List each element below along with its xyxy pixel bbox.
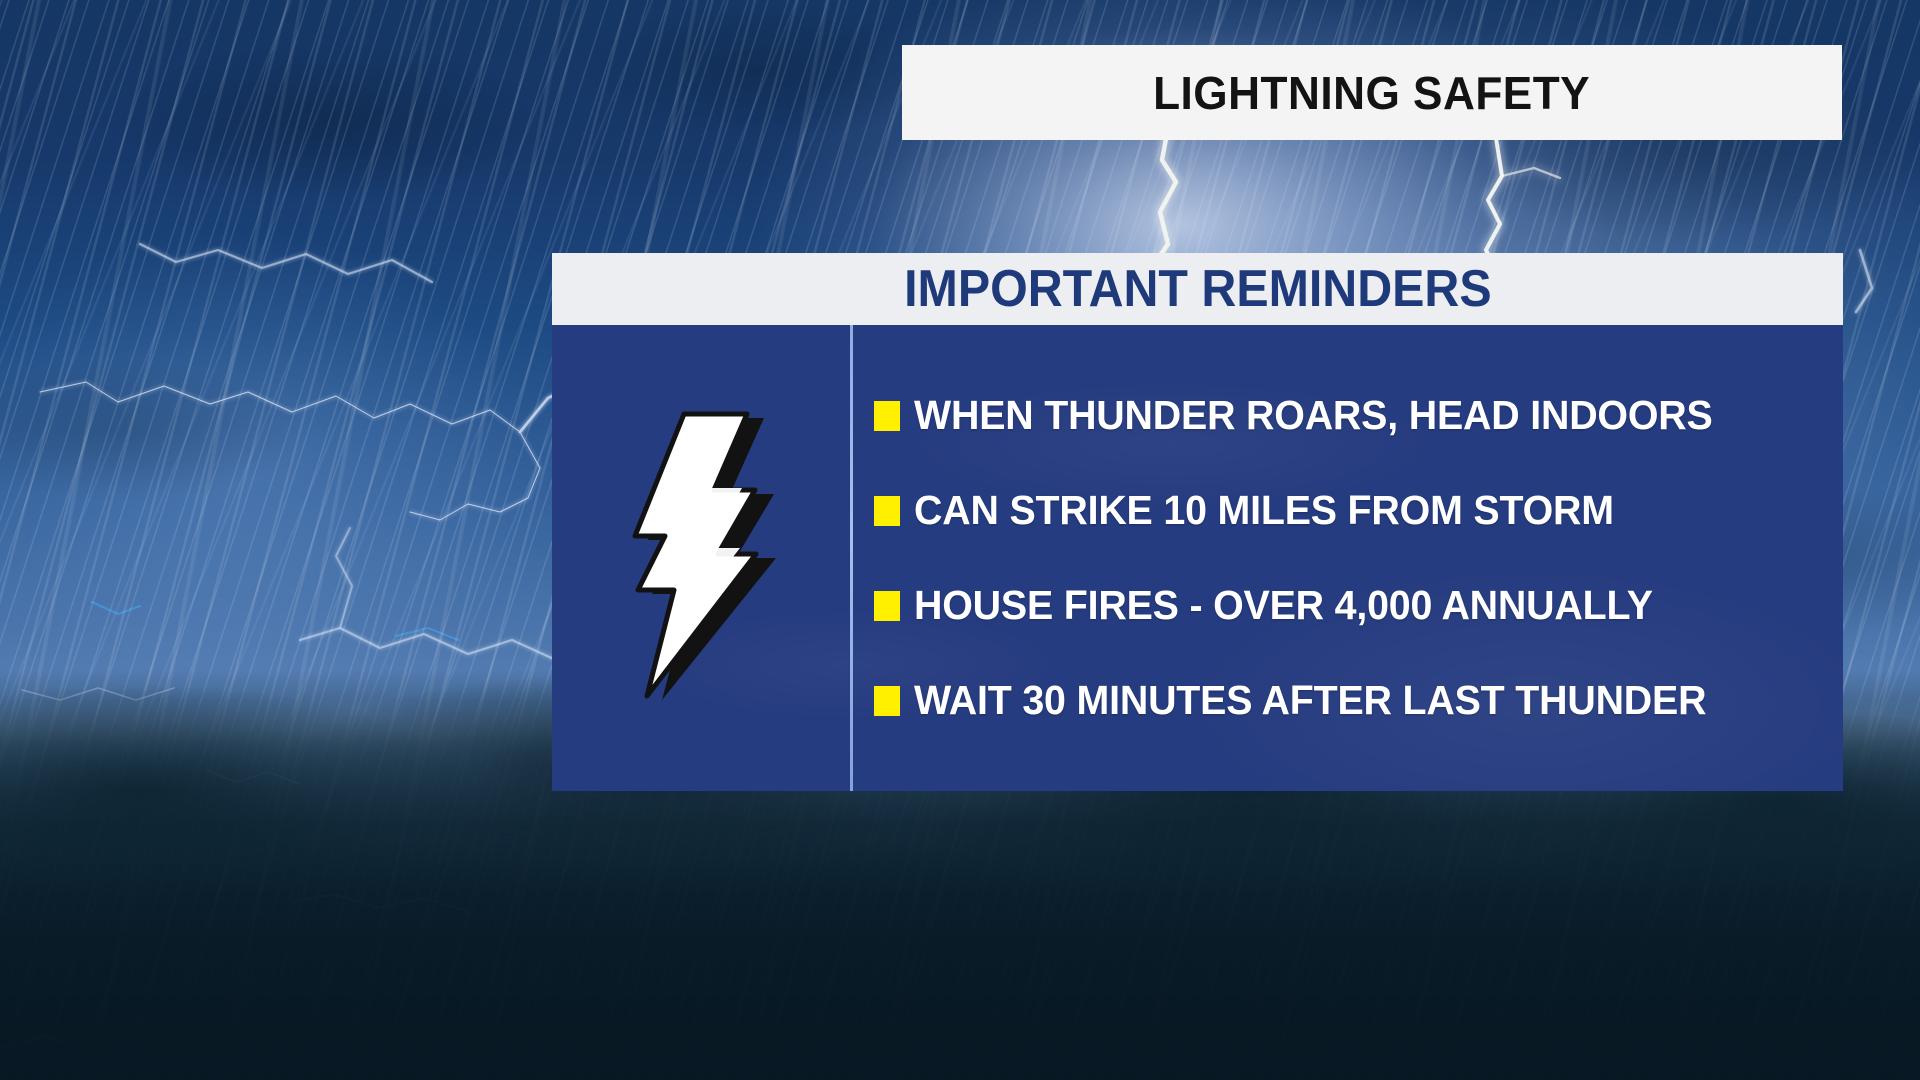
yellow-square-bullet-icon: [874, 686, 900, 716]
graphic-stage: LIGHTNING SAFETY IMPORTANT REMINDERS: [0, 0, 1920, 1080]
reminder-text-1: WHEN THUNDER ROARS, HEAD INDOORS: [914, 392, 1713, 439]
panel-icon-column: [552, 325, 850, 791]
panel-header-title: IMPORTANT REMINDERS: [904, 259, 1491, 319]
list-item: WHEN THUNDER ROARS, HEAD INDOORS: [874, 392, 1843, 439]
list-item: CAN STRIKE 10 MILES FROM STORM: [874, 487, 1843, 534]
yellow-square-bullet-icon: [874, 591, 900, 621]
page-title: LIGHTNING SAFETY: [1153, 66, 1590, 120]
yellow-square-bullet-icon: [874, 401, 900, 431]
list-item: HOUSE FIRES - OVER 4,000 ANNUALLY: [874, 582, 1843, 629]
reminders-list: WHEN THUNDER ROARS, HEAD INDOORS CAN STR…: [850, 325, 1843, 791]
reminder-text-2: CAN STRIKE 10 MILES FROM STORM: [914, 487, 1614, 534]
yellow-square-bullet-icon: [874, 496, 900, 526]
important-reminders-panel: IMPORTANT REMINDERS WHEN THUNDER R: [552, 253, 1843, 791]
list-item: WAIT 30 MINUTES AFTER LAST THUNDER: [874, 677, 1843, 724]
panel-vertical-divider: [850, 325, 853, 791]
panel-header: IMPORTANT REMINDERS: [552, 253, 1843, 325]
reminder-text-3: HOUSE FIRES - OVER 4,000 ANNUALLY: [914, 582, 1653, 629]
lightning-bolt-icon: [614, 408, 789, 708]
title-bar: LIGHTNING SAFETY: [902, 45, 1842, 140]
panel-body: WHEN THUNDER ROARS, HEAD INDOORS CAN STR…: [552, 325, 1843, 791]
reminder-text-4: WAIT 30 MINUTES AFTER LAST THUNDER: [914, 677, 1706, 724]
